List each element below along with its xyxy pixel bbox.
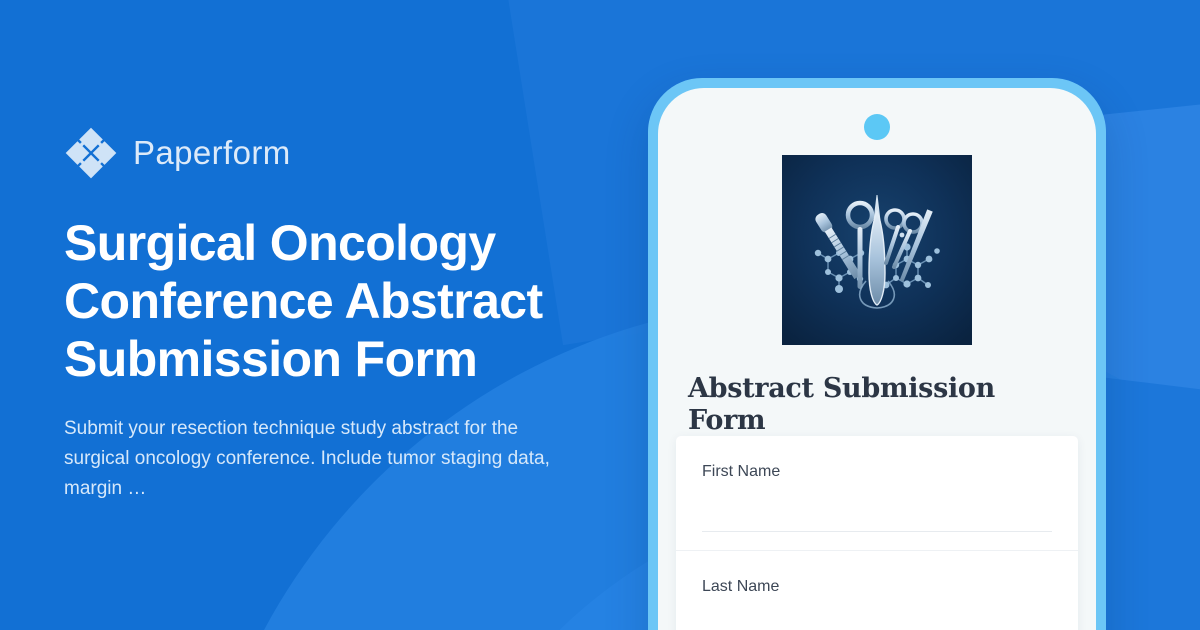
field-underline-first-name: [702, 531, 1052, 532]
brand-lockup: Paperform: [64, 126, 624, 180]
form-title: Abstract Submission Form: [688, 373, 1072, 438]
phone-mockup: Abstract Submission Form First Name Last…: [648, 78, 1106, 630]
surgical-instruments-molecules-image: [782, 155, 972, 345]
page-description: Submit your resection technique study ab…: [64, 414, 584, 504]
paperform-logo-icon: [64, 126, 118, 180]
page-title: Surgical Oncology Conference Abstract Su…: [64, 214, 594, 388]
field-label-first-name: First Name: [702, 462, 1052, 481]
phone-screen: Abstract Submission Form First Name Last…: [658, 88, 1096, 630]
social-share-card: Paperform Surgical Oncology Conference A…: [0, 0, 1200, 630]
brand-name: Paperform: [133, 136, 291, 169]
camera-dot-icon: [864, 114, 890, 140]
form-field-first-name[interactable]: First Name: [676, 436, 1078, 551]
hero-content-column: Paperform Surgical Oncology Conference A…: [64, 0, 624, 630]
form-field-last-name[interactable]: Last Name: [676, 551, 1078, 630]
form-card: First Name Last Name: [676, 436, 1078, 630]
field-label-last-name: Last Name: [702, 577, 1052, 596]
